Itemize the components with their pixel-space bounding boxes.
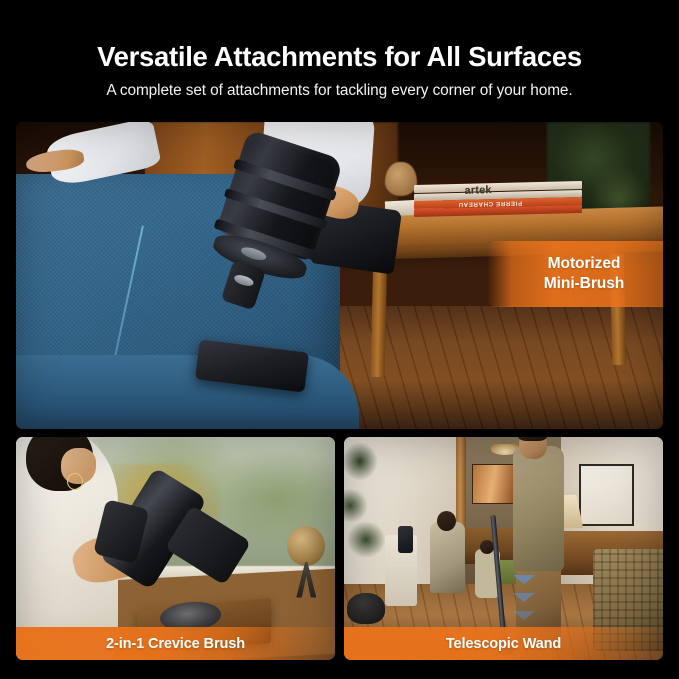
man-figure xyxy=(513,446,564,571)
header: Versatile Attachments for All Surfaces A… xyxy=(0,0,679,100)
crevice-brush-caption-label: 2-in-1 Crevice Brush xyxy=(106,636,245,652)
charging-dock xyxy=(398,526,412,553)
hero-image-panel[interactable]: artek PIERRE CHAREAU xyxy=(16,122,663,429)
book-stack: artek PIERRE CHAREAU xyxy=(414,181,582,217)
airflow-arrow xyxy=(513,575,535,584)
framed-picture xyxy=(579,464,634,526)
product-feature-page: Versatile Attachments for All Surfaces A… xyxy=(0,0,679,679)
telescopic-wand-panel[interactable]: Telescopic Wand xyxy=(344,437,663,660)
telescopic-wand-caption-bar: Telescopic Wand xyxy=(344,627,663,660)
hero-badge: Motorized Mini-Brush xyxy=(487,241,663,307)
page-subtitle: A complete set of attachments for tackli… xyxy=(0,73,679,100)
airflow-arrow xyxy=(513,611,535,620)
hero-badge-label: Motorized Mini-Brush xyxy=(544,254,624,294)
telescopic-wand-caption-label: Telescopic Wand xyxy=(446,636,561,652)
image-gallery: artek PIERRE CHAREAU xyxy=(16,122,663,660)
page-title: Versatile Attachments for All Surfaces xyxy=(0,0,679,73)
vase xyxy=(385,162,417,196)
crevice-brush-caption-bar: 2-in-1 Crevice Brush xyxy=(16,627,335,660)
plant-pot xyxy=(347,593,385,624)
airflow-arrow xyxy=(513,593,535,602)
crevice-brush-panel[interactable]: 2-in-1 Crevice Brush xyxy=(16,437,335,660)
seated-adult xyxy=(430,522,465,593)
book-title-artek: artek xyxy=(464,184,491,197)
